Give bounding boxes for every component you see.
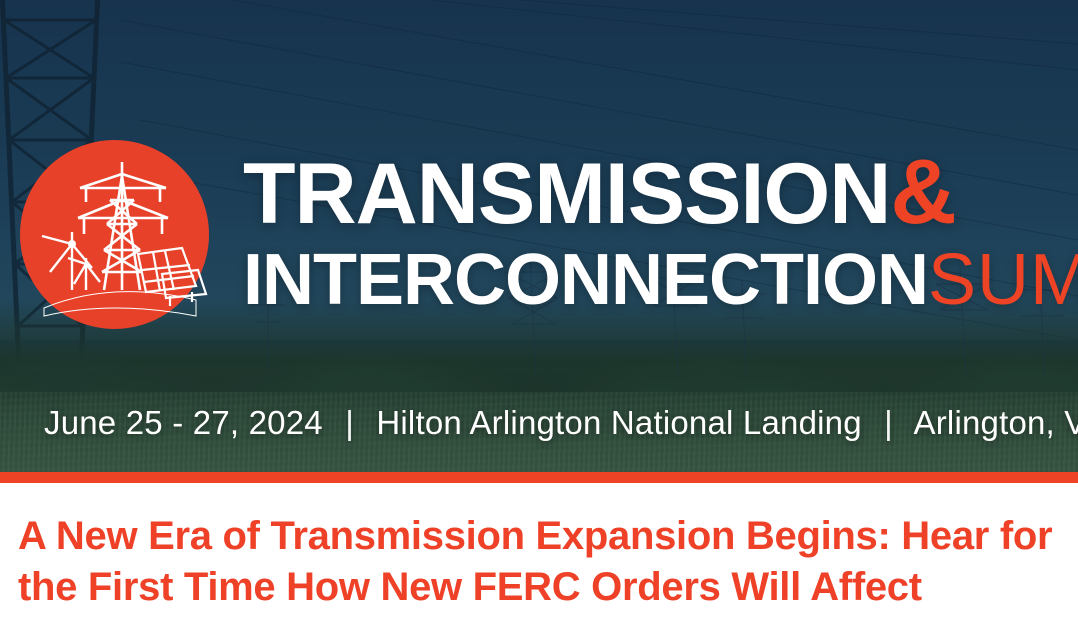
title-ampersand: & (890, 141, 955, 243)
title-line-1: TRANSMISSION& (243, 150, 1078, 235)
page-headline: A New Era of Transmission Expansion Begi… (0, 483, 1078, 620)
title-interconnection: INTERCONNECTION (243, 240, 928, 320)
summit-title: TRANSMISSION& INTERCONNECTIONSUMMIT (243, 150, 1078, 313)
hero-banner: TRANSMISSION& INTERCONNECTIONSUMMIT June… (0, 0, 1078, 472)
event-details-line: June 25 - 27, 2024 | Hilton Arlington Na… (44, 404, 1078, 442)
event-venue: Hilton Arlington National Landing (376, 404, 861, 441)
title-summit: SUMMIT (928, 240, 1078, 320)
event-location: Arlington, VA (914, 404, 1078, 441)
event-dates: June 25 - 27, 2024 (44, 404, 323, 441)
accent-divider-bar (0, 472, 1078, 483)
summit-logo (20, 140, 209, 329)
title-line-2: INTERCONNECTIONSUMMIT (243, 247, 1078, 313)
details-separator-1: | (332, 404, 367, 441)
details-separator-2: | (871, 404, 906, 441)
transmission-tower-wind-solar-icon (20, 140, 209, 329)
title-transmission: TRANSMISSION (243, 146, 890, 242)
